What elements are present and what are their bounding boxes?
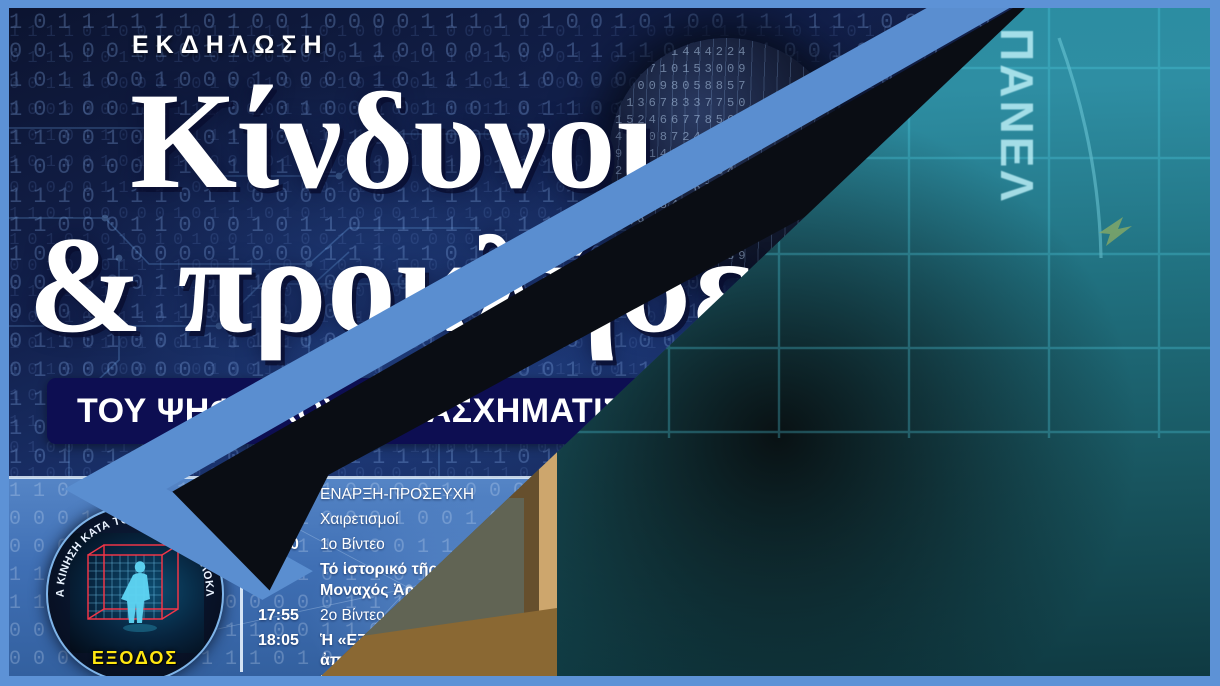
page-title-line-1: Κίνδυνοι	[130, 72, 658, 210]
event-poster: 1011111101001000011110100101001111110001…	[0, 0, 1220, 686]
frame-border-left	[0, 0, 9, 686]
emblem-name-label: ΕΞΟΔΟΣ	[48, 648, 222, 669]
event-kicker-label: ΕΚΔΗΛΩΣΗ	[132, 31, 329, 60]
frame-border-top	[0, 0, 1220, 8]
schedule-time: 18:05	[258, 631, 320, 650]
frame-border-right	[1210, 0, 1220, 686]
backdrop-panel-text: ΠΑΝΕΛ	[990, 28, 1044, 204]
schedule-time: 17:55	[258, 606, 320, 625]
frame-border-bottom	[0, 676, 1220, 686]
